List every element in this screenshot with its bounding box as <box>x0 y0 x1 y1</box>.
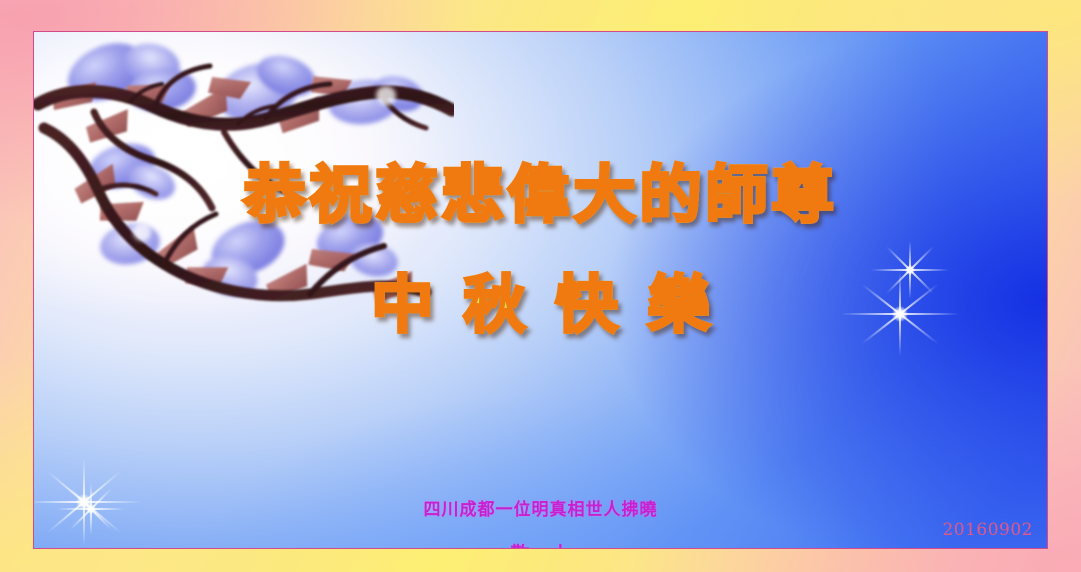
inner-picture-frame: 恭祝慈悲偉大的師尊 中秋快樂 四川成都一位明真相世人拂曉 敬上 20160902 <box>33 31 1048 549</box>
date-stamp: 20160902 <box>942 520 1033 540</box>
greeting-title-line-1: 恭祝慈悲偉大的師尊 <box>34 144 1047 234</box>
greeting-title-line-2: 中秋快樂 <box>34 254 1047 344</box>
signature-sender: 四川成都一位明真相世人拂曉 <box>34 495 1047 520</box>
signature-closing: 敬上 <box>34 539 1047 549</box>
greeting-card: 恭祝慈悲偉大的師尊 中秋快樂 四川成都一位明真相世人拂曉 敬上 20160902 <box>0 0 1081 572</box>
